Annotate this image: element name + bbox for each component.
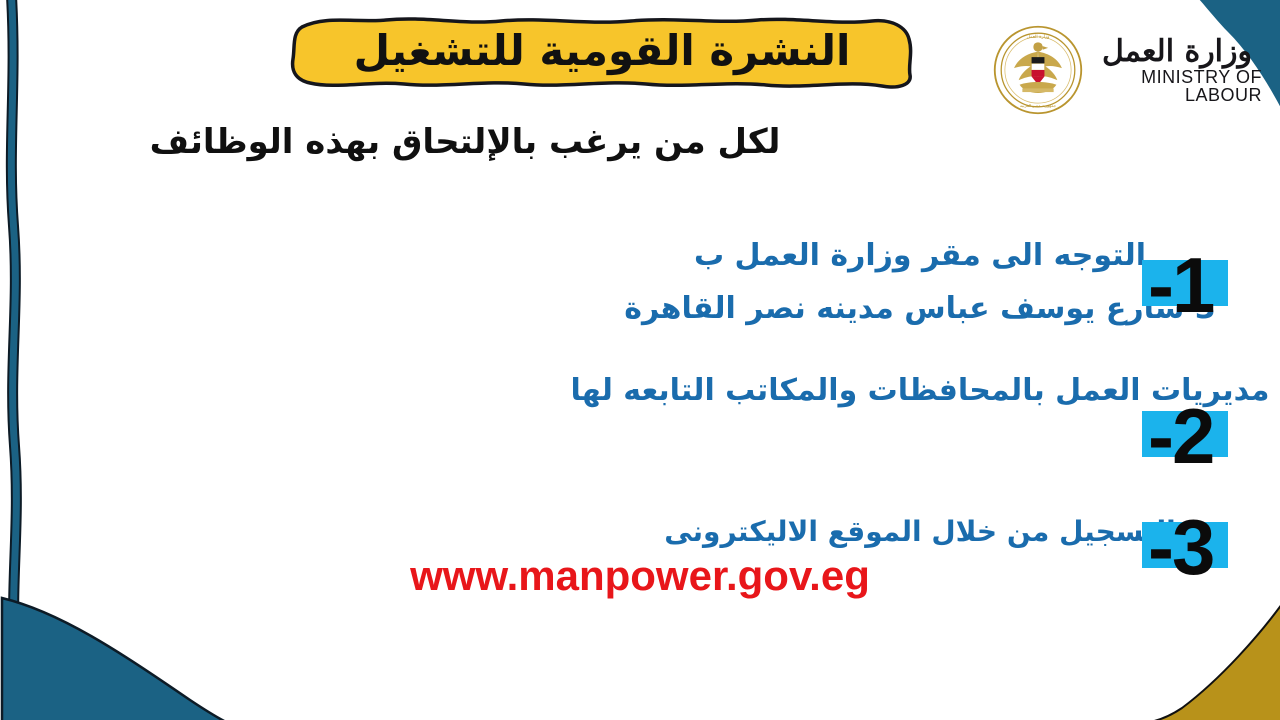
poster-canvas: النشرة القومية للتشغيل وزارة العمل جمهور…	[0, 0, 1280, 720]
title-banner: النشرة القومية للتشغيل	[286, 13, 918, 91]
marker-3-number: -3	[1142, 508, 1213, 586]
instruction-1-line-1: التوجه الى مقر وزارة العمل ب	[0, 238, 1280, 273]
ministry-logo: وزارة العمل جمهورية مصر العربية وزارة ال…	[992, 22, 1262, 118]
svg-text:وزارة العمل: وزارة العمل	[1027, 35, 1050, 40]
marker-1-number: -1	[1142, 246, 1213, 324]
marker-2-number: -2	[1142, 397, 1213, 475]
marker-2: -2	[1142, 397, 1213, 475]
instruction-3-line-1: التسجيل من خلال الموقع الاليكترونى	[0, 515, 1280, 548]
bottom-right-gold-wedge-decoration	[1150, 596, 1280, 720]
banner-title-text: النشرة القومية للتشغيل	[286, 13, 918, 91]
ministry-name-arabic: وزارة العمل	[1102, 37, 1252, 67]
instruction-2-line-1: مديريات العمل بالمحافظات والمكاتب التابع…	[0, 373, 1280, 408]
poster-subtitle: لكل من يرغب بالإلتحاق بهذه الوظائف	[0, 122, 930, 162]
instruction-1-line-2: 3 شارع يوسف عباس مدينه نصر القاهرة	[0, 291, 1280, 326]
ministry-name-english: MINISTRY OF LABOUR	[1092, 68, 1262, 104]
manpower-website-url[interactable]: www.manpower.gov.eg	[0, 552, 1280, 600]
marker-1: -1	[1142, 246, 1213, 324]
svg-text:جمهورية مصر العربية: جمهورية مصر العربية	[1020, 103, 1057, 108]
marker-3: -3	[1142, 508, 1213, 586]
ministry-logo-wordmark: وزارة العمل MINISTRY OF LABOUR	[1092, 37, 1262, 104]
egypt-eagle-emblem-icon: وزارة العمل جمهورية مصر العربية	[992, 24, 1084, 116]
